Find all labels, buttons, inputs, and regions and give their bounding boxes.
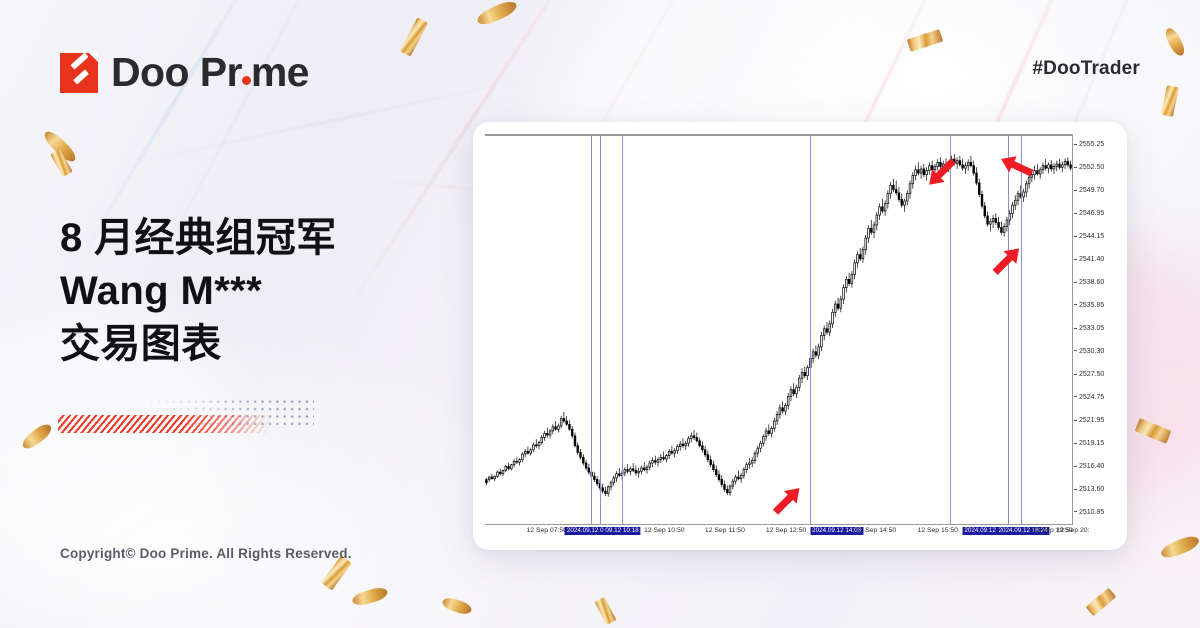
time-tick-label: 12 Sep 12:50 [766,528,806,535]
logo-notch [89,53,98,62]
time-tick-label: 12 Sep 14:50 [856,528,896,535]
time-tick-label: 12 Sep 11:50 [705,528,745,535]
headline-line-2: Wang M*** [60,265,337,318]
headline-line-1: 8 月经典组冠军 [60,212,337,265]
entry-line-3 [622,136,623,526]
time-tick-label: 12 Sep 10:50 [644,528,684,535]
price-tick-label: 2519.15 [1074,440,1104,447]
price-tick-label: 2544.15 [1074,233,1104,240]
price-tick-label: 2524.75 [1074,394,1104,401]
price-axis: 2555.252552.502549.702546.952544.152541.… [1074,134,1115,524]
chart-inner: 2555.252552.502549.702546.952544.152541.… [485,134,1115,538]
headline-line-3: 交易图表 [60,318,337,371]
candlestick-series [485,136,1072,524]
time-tick-label: 12 Sep 15:50 [918,528,958,535]
price-tick-label: 2510.85 [1074,509,1104,516]
entry-line-2 [600,136,601,526]
hashtag-label: #DooTrader [1032,58,1140,80]
entry-line-6 [1008,136,1009,526]
price-tick-label: 2538.60 [1074,279,1104,286]
time-tick-label: 12 Sep 07:50 [527,528,567,535]
price-tick-label: 2527.50 [1074,371,1104,378]
price-tick-label: 2549.70 [1074,187,1104,194]
red-stripe-decoration [58,415,272,433]
time-axis: 12 Sep 07:502024.09.12 09:3409.12 10:181… [485,524,1073,538]
brand-wordmark: Doo Prme [111,52,309,93]
price-tick-label: 2541.40 [1074,256,1104,263]
price-tick-label: 2513.60 [1074,486,1104,493]
price-tick-label: 2516.40 [1074,463,1104,470]
price-tick-label: 2533.05 [1074,325,1104,332]
entry-line-7 [1021,136,1022,526]
decorative-accent [58,398,314,436]
price-tick-label: 2555.25 [1074,141,1104,148]
logo-dot-i-icon [242,76,251,85]
wordmark-pr: Pr [200,49,242,95]
page-title: 8 月经典组冠军 Wang M*** 交易图表 [60,212,337,372]
candlestick-plot-area [485,134,1073,524]
price-tick-label: 2530.30 [1074,348,1104,355]
brand-logo: Doo Prme [60,52,309,93]
trading-chart-card: 2555.252552.502549.702546.952544.152541.… [473,122,1127,550]
entry-line-5 [950,136,951,526]
copyright-text: Copyright© Doo Prime. All Rights Reserve… [60,546,352,561]
time-tick-marker: 09.12 10:18 [603,527,640,535]
time-tick-label: 12 Sep 20: [1057,528,1090,535]
wordmark-me: me [251,49,309,95]
entry-line-1 [591,136,592,526]
price-tick-label: 2552.50 [1074,164,1104,171]
doo-prime-logo-mark-icon [60,53,98,93]
price-tick-label: 2546.95 [1074,210,1104,217]
price-tick-label: 2535.85 [1074,302,1104,309]
entry-line-4 [810,136,811,526]
wordmark-doo: Doo [111,49,189,95]
price-tick-label: 2521.95 [1074,417,1104,424]
